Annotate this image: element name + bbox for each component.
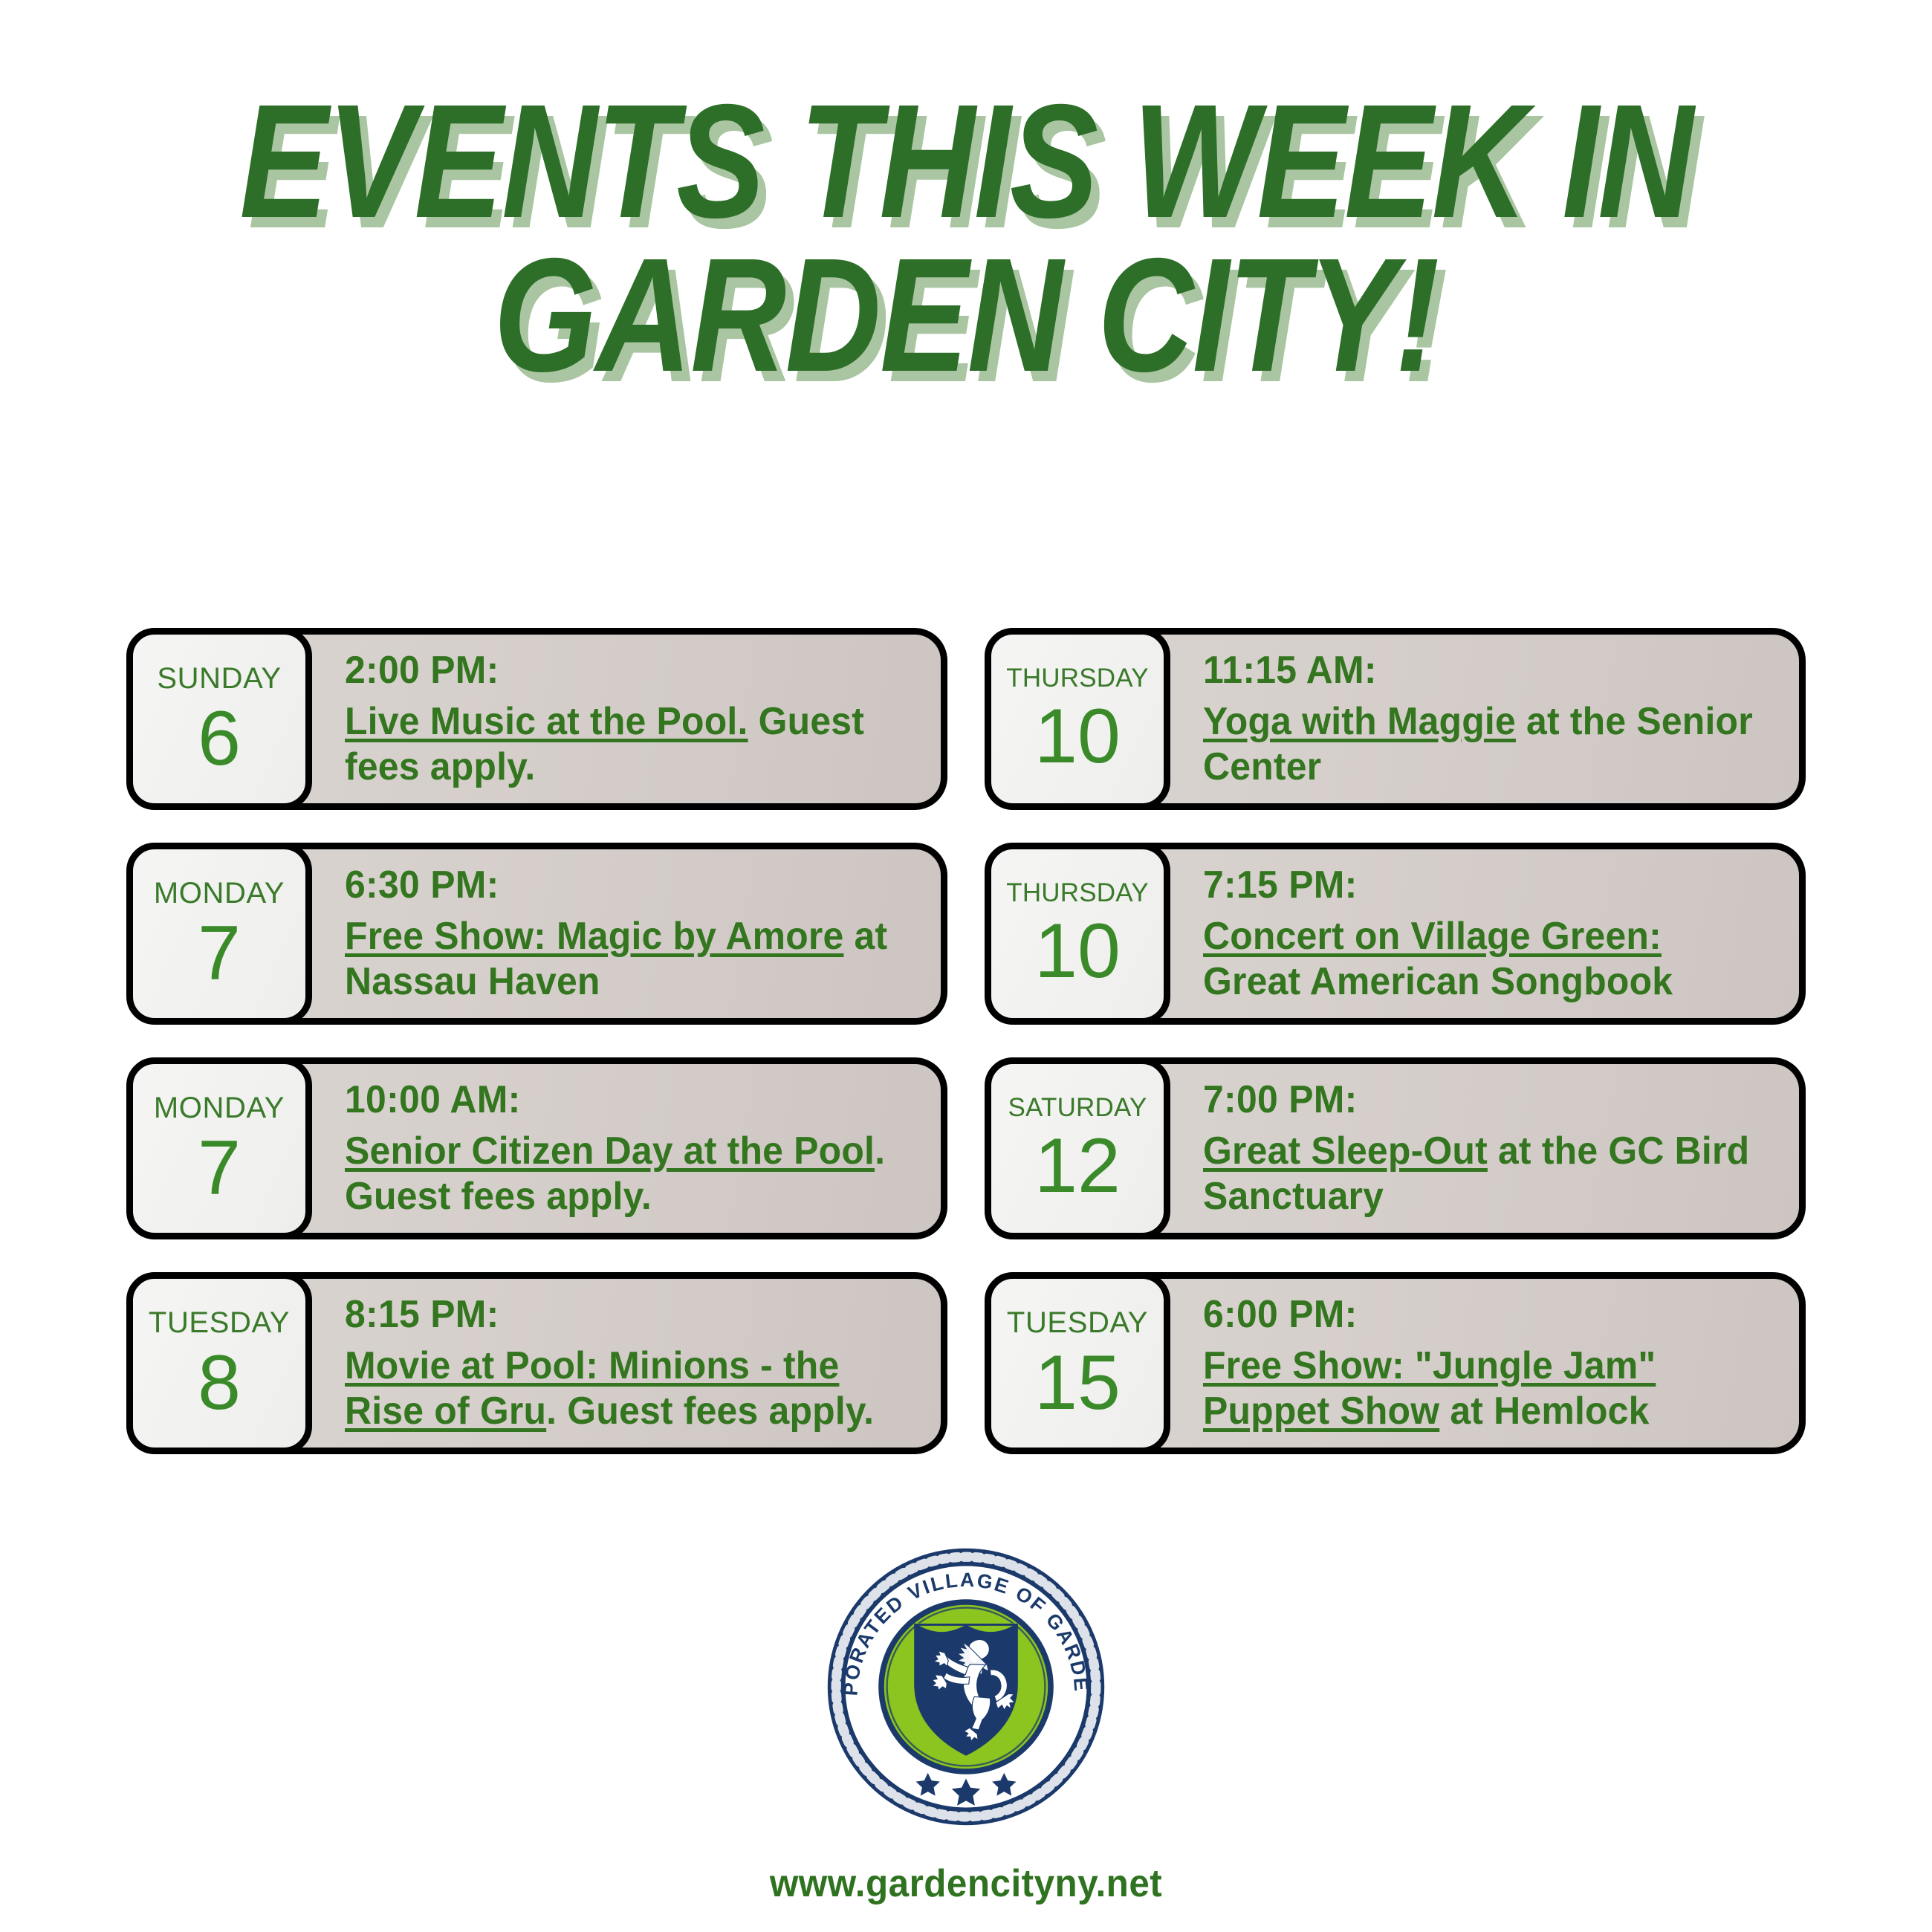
event-card-body: 6:30 PM:Free Show: Magic by Amore at Nas… bbox=[312, 849, 941, 1018]
seal-container: INCORPORATED VILLAGE OF GARDEN CITY bbox=[0, 1546, 1932, 1828]
event-weekday: SUNDAY bbox=[157, 664, 281, 693]
event-day-number: 15 bbox=[1034, 1348, 1121, 1419]
event-card-body: 10:00 AM:Senior Citizen Day at the Pool.… bbox=[312, 1064, 941, 1233]
events-grid: SUNDAY62:00 PM:Live Music at the Pool. G… bbox=[126, 628, 1806, 1454]
event-card[interactable]: THURSDAY1011:15 AM:Yoga with Maggie at t… bbox=[985, 628, 1806, 810]
event-time: 6:00 PM: bbox=[1203, 1293, 1757, 1336]
event-day-number: 10 bbox=[1034, 701, 1121, 773]
event-weekday: SATURDAY bbox=[1008, 1095, 1147, 1121]
event-card[interactable]: SATURDAY127:00 PM:Great Sleep-Out at the… bbox=[985, 1057, 1806, 1239]
event-desc-link[interactable]: Free Show: Magic by Amore bbox=[345, 915, 843, 958]
event-description: Concert on Village Green: Great American… bbox=[1203, 914, 1757, 1004]
event-time: 11:15 AM: bbox=[1203, 649, 1757, 692]
village-seal-icon: INCORPORATED VILLAGE OF GARDEN CITY bbox=[825, 1546, 1107, 1828]
event-card[interactable]: TUESDAY156:00 PM:Free Show: "Jungle Jam"… bbox=[985, 1272, 1806, 1454]
event-card-body: 11:15 AM:Yoga with Maggie at the Senior … bbox=[1170, 635, 1799, 803]
event-card-body: 7:00 PM:Great Sleep-Out at the GC Bird S… bbox=[1170, 1064, 1799, 1233]
event-date-box: SATURDAY12 bbox=[985, 1057, 1170, 1239]
event-card-body: 2:00 PM:Live Music at the Pool. Guest fe… bbox=[312, 635, 941, 803]
event-day-number: 7 bbox=[198, 918, 241, 990]
event-date-box: MONDAY7 bbox=[126, 1057, 312, 1239]
event-card[interactable]: MONDAY76:30 PM:Free Show: Magic by Amore… bbox=[126, 843, 947, 1025]
event-weekday: THURSDAY bbox=[1006, 665, 1149, 691]
event-card[interactable]: THURSDAY107:15 PM:Concert on Village Gre… bbox=[985, 843, 1806, 1025]
event-desc-link[interactable]: Concert on Village Green: bbox=[1203, 915, 1662, 958]
event-day-number: 7 bbox=[198, 1133, 241, 1205]
event-desc-text: Great American Songbook bbox=[1203, 960, 1673, 1003]
event-weekday: TUESDAY bbox=[1007, 1308, 1148, 1338]
event-description: Free Show: Magic by Amore at Nassau Have… bbox=[345, 914, 898, 1004]
event-desc-text: . Guest fees apply. bbox=[546, 1390, 874, 1433]
event-date-box: THURSDAY10 bbox=[985, 843, 1170, 1025]
event-desc-link[interactable]: Live Music at the Pool. bbox=[345, 700, 748, 743]
event-card-body: 8:15 PM:Movie at Pool: Minions - the Ris… bbox=[312, 1279, 941, 1448]
event-desc-text: at Hemlock bbox=[1439, 1390, 1649, 1433]
event-day-number: 12 bbox=[1034, 1131, 1121, 1202]
event-time: 8:15 PM: bbox=[345, 1293, 898, 1336]
event-date-box: TUESDAY15 bbox=[985, 1272, 1170, 1454]
event-weekday: MONDAY bbox=[154, 1093, 285, 1123]
page-title-line-1: EVENTS THIS WEEK IN bbox=[174, 88, 1758, 237]
event-time: 6:30 PM: bbox=[345, 863, 898, 907]
event-description: Great Sleep-Out at the GC Bird Sanctuary bbox=[1203, 1129, 1757, 1219]
event-weekday: THURSDAY bbox=[1006, 880, 1149, 906]
event-card-body: 7:15 PM:Concert on Village Green: Great … bbox=[1170, 849, 1799, 1018]
event-description: Senior Citizen Day at the Pool. Guest fe… bbox=[345, 1129, 898, 1219]
event-weekday: MONDAY bbox=[154, 878, 285, 908]
event-time: 7:15 PM: bbox=[1203, 863, 1757, 907]
event-description: Free Show: "Jungle Jam" Puppet Show at H… bbox=[1203, 1343, 1757, 1433]
event-desc-link[interactable]: Senior Citizen Day at the Pool bbox=[345, 1129, 875, 1173]
event-date-box: TUESDAY8 bbox=[126, 1272, 312, 1454]
event-card[interactable]: MONDAY710:00 AM:Senior Citizen Day at th… bbox=[126, 1057, 947, 1239]
event-day-number: 8 bbox=[198, 1348, 241, 1419]
event-card[interactable]: SUNDAY62:00 PM:Live Music at the Pool. G… bbox=[126, 628, 947, 810]
page-title: EVENTS THIS WEEK IN GARDEN CITY! bbox=[0, 0, 1932, 390]
event-time: 10:00 AM: bbox=[345, 1078, 898, 1121]
page-title-line-2: GARDEN CITY! bbox=[174, 241, 1758, 391]
event-description: Movie at Pool: Minions - the Rise of Gru… bbox=[345, 1343, 898, 1433]
event-description: Yoga with Maggie at the Senior Center bbox=[1203, 699, 1757, 789]
event-card[interactable]: TUESDAY88:15 PM:Movie at Pool: Minions -… bbox=[126, 1272, 947, 1454]
footer: www.gardencityny.net bbox=[0, 1861, 1932, 1906]
event-description: Live Music at the Pool. Guest fees apply… bbox=[345, 699, 898, 789]
event-day-number: 6 bbox=[198, 704, 241, 775]
website-url[interactable]: www.gardencityny.net bbox=[770, 1861, 1162, 1906]
event-time: 2:00 PM: bbox=[345, 649, 898, 692]
event-time: 7:00 PM: bbox=[1203, 1078, 1757, 1121]
event-card-body: 6:00 PM:Free Show: "Jungle Jam" Puppet S… bbox=[1170, 1279, 1799, 1448]
event-desc-link[interactable]: Yoga with Maggie bbox=[1203, 700, 1516, 743]
event-date-box: SUNDAY6 bbox=[126, 628, 312, 810]
event-date-box: THURSDAY10 bbox=[985, 628, 1170, 810]
event-date-box: MONDAY7 bbox=[126, 843, 312, 1025]
event-desc-link[interactable]: Great Sleep-Out bbox=[1203, 1129, 1488, 1173]
event-day-number: 10 bbox=[1034, 916, 1121, 988]
event-weekday: TUESDAY bbox=[149, 1308, 290, 1338]
